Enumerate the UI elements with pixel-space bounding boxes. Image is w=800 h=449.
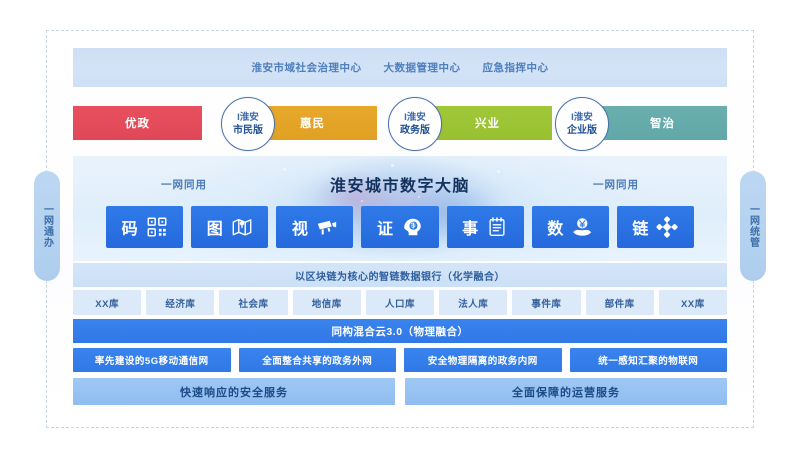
brain-speck — [361, 200, 363, 202]
badge-enterprise-line1: I淮安 — [571, 112, 593, 124]
database-box-1[interactable]: 经济库 — [146, 290, 214, 315]
badge-government-line2: 政务版 — [400, 124, 430, 137]
governance-centers-list: 淮安市域社会治理中心 大数据管理中心 应急指挥中心 — [252, 60, 549, 75]
head-brain-icon — [401, 216, 423, 238]
database-row: XX库 经济库 社会库 地信库 人口库 法人库 事件库 部件库 XX库 — [73, 290, 727, 315]
capability-label-video: 视 — [292, 215, 309, 239]
side-label-right-text: 一网统管 — [746, 204, 761, 248]
digital-brain-panel: 一网同用 淮安城市数字大脑 一网同用 码 — [73, 156, 727, 261]
capability-box-chain[interactable]: 链 — [617, 206, 694, 248]
side-label-left-text: 一网通办 — [40, 204, 55, 248]
governance-centers-banner: 淮安市域社会治理中心 大数据管理中心 应急指挥中心 — [73, 48, 727, 87]
blockchain-icon — [656, 216, 678, 238]
network-box-intranet[interactable]: 安全物理隔离的政务内网 — [404, 348, 562, 372]
badge-citizen-line1: I淮安 — [237, 112, 259, 124]
capability-box-code[interactable]: 码 — [106, 206, 183, 248]
center-label-1: 大数据管理中心 — [384, 60, 461, 75]
capability-row: 码 图 — [106, 206, 694, 248]
side-label-one-net-governance: 一网统管 — [740, 171, 766, 281]
capability-label-code: 码 — [122, 215, 139, 239]
service-box-security[interactable]: 快速响应的安全服务 — [73, 378, 395, 405]
service-box-operation[interactable]: 全面保障的运营服务 — [405, 378, 727, 405]
strategy-strip-zhizhi[interactable]: 智治 — [598, 106, 727, 140]
badge-government-line1: I淮安 — [404, 112, 426, 124]
same-net-label-right: 一网同用 — [593, 177, 639, 192]
database-box-2[interactable]: 社会库 — [219, 290, 287, 315]
database-box-5[interactable]: 法人库 — [439, 290, 507, 315]
capability-box-affairs[interactable]: 事 — [447, 206, 524, 248]
capability-box-video[interactable]: 视 — [276, 206, 353, 248]
capability-label-map: 图 — [207, 215, 224, 239]
qrcode-icon — [146, 216, 168, 238]
strategy-strip-xingye[interactable]: 兴业 — [423, 106, 552, 140]
badge-citizen-edition[interactable]: I淮安 市民版 — [221, 97, 275, 151]
badge-enterprise-line2: 企业版 — [567, 124, 597, 137]
database-box-6[interactable]: 事件库 — [512, 290, 580, 315]
capability-label-data: 数 — [547, 215, 564, 239]
center-label-2: 应急指挥中心 — [483, 60, 549, 75]
badge-government-edition[interactable]: I淮安 政务版 — [388, 97, 442, 151]
database-box-3[interactable]: 地信库 — [293, 290, 361, 315]
network-box-iot[interactable]: 统一感知汇聚的物联网 — [570, 348, 728, 372]
badge-enterprise-edition[interactable]: I淮安 企业版 — [555, 97, 609, 151]
capability-box-data[interactable]: 数 — [532, 206, 609, 248]
brain-speck — [418, 196, 420, 198]
network-box-5g[interactable]: 率先建设的5G移动通信网 — [73, 348, 231, 372]
capability-label-certificate: 证 — [377, 215, 394, 239]
side-label-one-net-service: 一网通办 — [34, 171, 60, 281]
capability-label-affairs: 事 — [462, 215, 479, 239]
database-box-4[interactable]: 人口库 — [366, 290, 434, 315]
architecture-diagram-frame: 淮安市域社会治理中心 大数据管理中心 应急指挥中心 优政 惠民 兴业 智治 I淮… — [46, 30, 754, 428]
center-label-0: 淮安市域社会治理中心 — [252, 60, 362, 75]
capability-label-chain: 链 — [632, 215, 649, 239]
database-box-7[interactable]: 部件库 — [586, 290, 654, 315]
map-icon — [231, 216, 253, 238]
capability-box-map[interactable]: 图 — [191, 206, 268, 248]
data-bank-strip: 以区块链为核心的智链数据银行（化学融合） — [73, 263, 727, 287]
strategy-strip-youzheng[interactable]: 优政 — [73, 106, 202, 140]
brain-speck — [283, 168, 286, 171]
clipboard-icon — [486, 216, 508, 238]
yen-hand-icon — [571, 216, 593, 238]
brain-speck — [391, 164, 394, 167]
hybrid-cloud-bar: 同构混合云3.0（物理融合） — [73, 319, 727, 343]
network-row: 率先建设的5G移动通信网 全面整合共享的政务外网 安全物理隔离的政务内网 统一感… — [73, 348, 727, 372]
badge-citizen-line2: 市民版 — [233, 124, 263, 137]
capability-box-certificate[interactable]: 证 — [361, 206, 438, 248]
camera-icon — [316, 216, 338, 238]
database-box-8[interactable]: XX库 — [659, 290, 727, 315]
network-box-extranet[interactable]: 全面整合共享的政务外网 — [239, 348, 397, 372]
database-box-0[interactable]: XX库 — [73, 290, 141, 315]
service-row: 快速响应的安全服务 全面保障的运营服务 — [73, 378, 727, 405]
